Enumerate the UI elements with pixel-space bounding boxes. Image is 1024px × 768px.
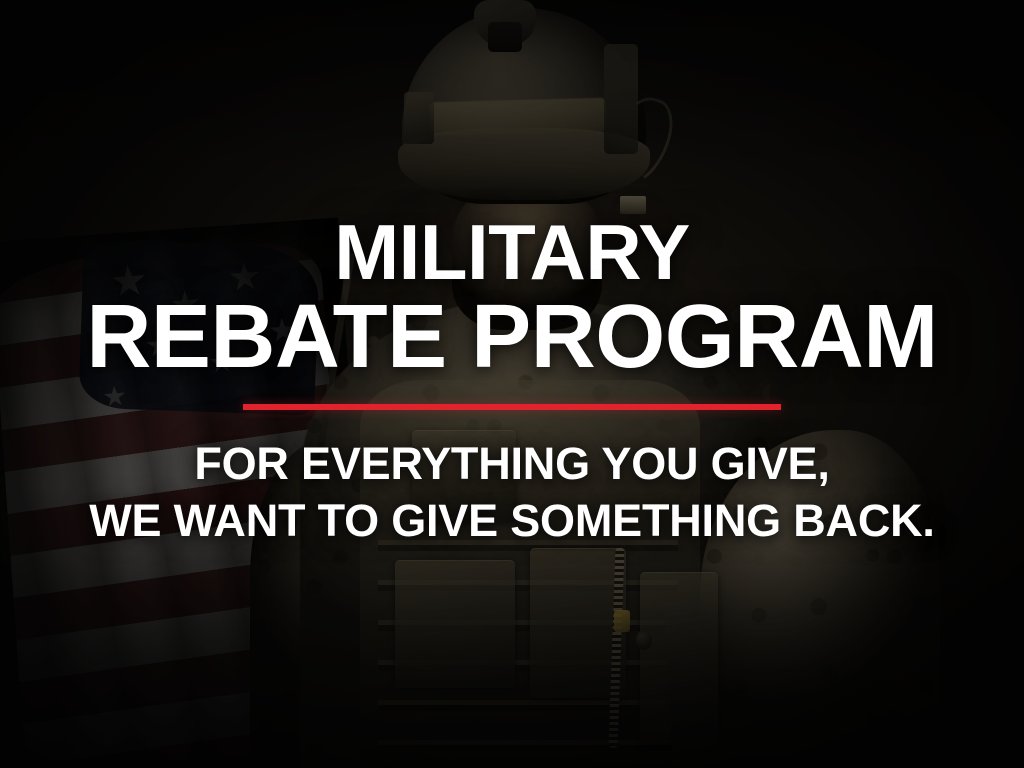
title-line-2: REBATE PROGRAM — [0, 293, 1024, 382]
title-block: MILITARY REBATE PROGRAM — [0, 214, 1024, 382]
subtitle-block: FOR EVERYTHING YOU GIVE, WE WANT TO GIVE… — [0, 436, 1024, 549]
text-overlay: MILITARY REBATE PROGRAM FOR EVERYTHING Y… — [0, 0, 1024, 768]
red-divider-rule — [243, 404, 781, 410]
subtitle-line-2: WE WANT TO GIVE SOMETHING BACK. — [0, 493, 1024, 550]
military-rebate-banner: MILITARY REBATE PROGRAM FOR EVERYTHING Y… — [0, 0, 1024, 768]
title-line-1: MILITARY — [0, 214, 1024, 291]
subtitle-line-1: FOR EVERYTHING YOU GIVE, — [0, 436, 1024, 493]
